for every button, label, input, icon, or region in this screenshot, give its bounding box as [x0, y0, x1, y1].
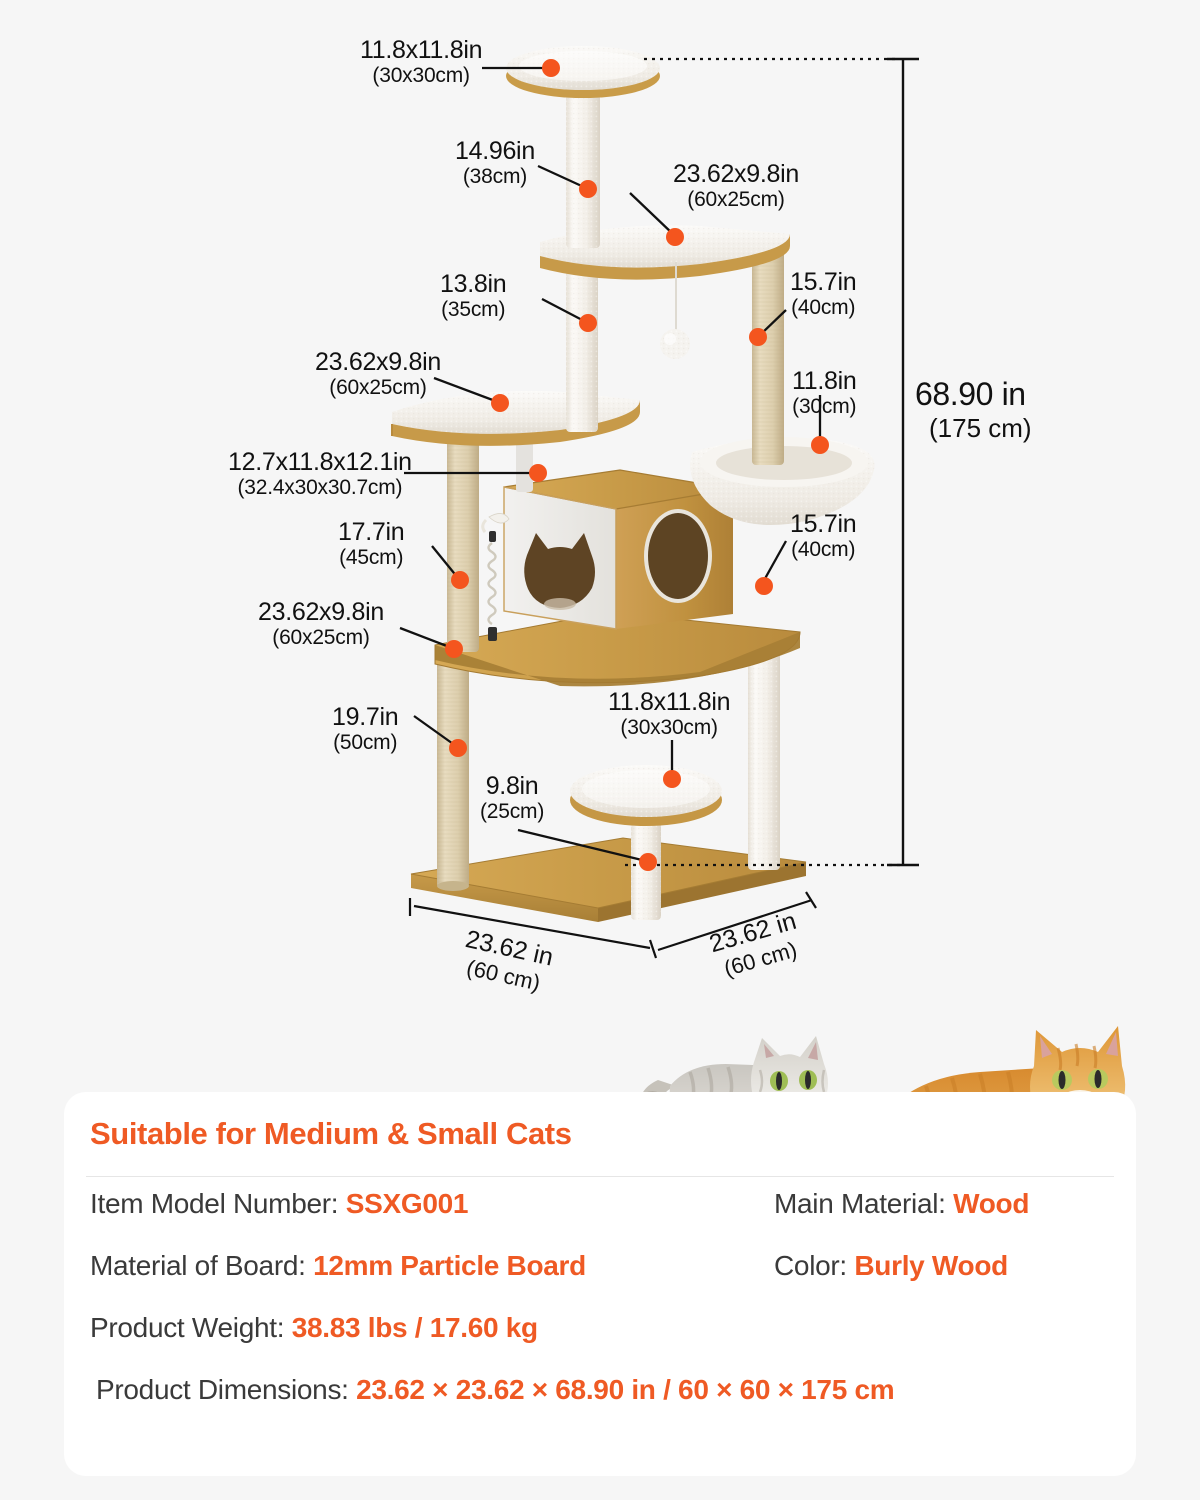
- marker-step-perch: [663, 770, 681, 788]
- callout-mid-platform: 23.62x9.8in (60x25cm): [315, 348, 441, 400]
- callout-condo: 12.7x11.8x12.1in (32.4x30x30.7cm): [228, 448, 412, 500]
- callout-hammock-cm: (30cm): [792, 395, 856, 419]
- spec-item-main-material: Main Material: Wood: [774, 1188, 1029, 1220]
- callout-right-post-lower-cm: (40cm): [790, 538, 856, 562]
- callout-step-perch-in: 11.8x11.8in: [608, 688, 730, 716]
- callout-top-perch-in: 11.8x11.8in: [360, 36, 482, 64]
- spec-value-dimensions: 23.62 × 23.62 × 68.90 in / 60 × 60 × 175…: [356, 1374, 894, 1405]
- callout-mid-post-cm: (35cm): [440, 298, 506, 322]
- callout-hammock-in: 11.8in: [792, 367, 856, 395]
- spec-value-weight: 38.83 lbs / 17.60 kg: [292, 1312, 538, 1343]
- marker-right-post-upper: [749, 328, 767, 346]
- callout-top-post-cm: (38cm): [455, 165, 535, 189]
- callout-step-post-in: 9.8in: [480, 772, 544, 800]
- callout-right-post-lower: 15.7in (40cm): [790, 510, 856, 562]
- callout-top-post-in: 14.96in: [455, 137, 535, 165]
- callout-scratch-post-cm: (45cm): [338, 546, 404, 570]
- callout-lower-platform-in: 23.62x9.8in: [258, 598, 384, 626]
- callout-right-post-lower-in: 15.7in: [790, 510, 856, 538]
- marker-lower-platform: [445, 640, 463, 658]
- callout-step-post-cm: (25cm): [480, 800, 544, 824]
- spec-label-main-material: Main Material:: [774, 1188, 953, 1219]
- spec-value-color: Burly Wood: [854, 1250, 1008, 1281]
- cat-tree-illustration: [0, 0, 1200, 1040]
- spec-card-divider: [86, 1176, 1114, 1177]
- spec-label-model: Item Model Number:: [90, 1188, 346, 1219]
- spec-value-board: 12mm Particle Board: [313, 1250, 586, 1281]
- spec-item-product-dimensions: Product Dimensions: 23.62 × 23.62 × 68.9…: [96, 1374, 894, 1406]
- callout-condo-in: 12.7x11.8x12.1in: [228, 448, 412, 476]
- callout-lower-platform-cm: (60x25cm): [258, 626, 384, 650]
- post-right-upper: [752, 250, 784, 465]
- callout-upper-platform: 23.62x9.8in (60x25cm): [673, 160, 799, 212]
- marker-base-post: [449, 739, 467, 757]
- callout-scratch-post-in: 17.7in: [338, 518, 404, 546]
- spec-row-model: Item Model Number: SSXG001 Main Material…: [90, 1188, 1110, 1250]
- marker-top-post: [579, 180, 597, 198]
- callout-base-post-in: 19.7in: [332, 703, 398, 731]
- spec-card: Suitable for Medium & Small Cats Item Mo…: [64, 1092, 1136, 1476]
- spec-value-model: SSXG001: [346, 1188, 468, 1219]
- callout-scratch-post: 17.7in (45cm): [338, 518, 404, 570]
- post-top: [566, 86, 600, 248]
- spec-row-dimensions: Product Dimensions: 23.62 × 23.62 × 68.9…: [90, 1374, 1110, 1436]
- callout-base-post: 19.7in (50cm): [332, 703, 398, 755]
- marker-mid-post: [579, 314, 597, 332]
- callout-top-perch-cm: (30x30cm): [360, 64, 482, 88]
- spec-item-material-of-board: Material of Board: 12mm Particle Board: [90, 1250, 586, 1282]
- callout-lower-platform: 23.62x9.8in (60x25cm): [258, 598, 384, 650]
- spec-label-board: Material of Board:: [90, 1250, 313, 1281]
- callout-mid-post-in: 13.8in: [440, 270, 506, 298]
- spec-label-color: Color:: [774, 1250, 854, 1281]
- marker-condo: [529, 464, 547, 482]
- marker-top-perch: [542, 59, 560, 77]
- callout-right-post-upper-cm: (40cm): [790, 296, 856, 320]
- marker-scratch-post: [451, 571, 469, 589]
- callout-condo-cm: (32.4x30x30.7cm): [228, 476, 412, 500]
- spec-item-model-number: Item Model Number: SSXG001: [90, 1188, 468, 1220]
- post-base-left: [437, 648, 469, 891]
- perch-top: [506, 46, 660, 98]
- product-dimension-infographic: 11.8x11.8in (30x30cm) 14.96in (38cm) 23.…: [0, 0, 1200, 1500]
- overall-height-in: 68.90 in: [915, 376, 1032, 413]
- marker-mid-platform: [491, 394, 509, 412]
- post-right-lower: [748, 630, 780, 870]
- marker-hammock: [811, 436, 829, 454]
- marker-step-post: [639, 853, 657, 871]
- callout-hammock: 11.8in (30cm): [792, 367, 856, 419]
- perch-step: [570, 765, 722, 826]
- callout-upper-platform-cm: (60x25cm): [673, 188, 799, 212]
- spec-label-dimensions: Product Dimensions:: [96, 1374, 356, 1405]
- spec-row-weight: Product Weight: 38.83 lbs / 17.60 kg: [90, 1312, 1110, 1374]
- condo-house: [504, 470, 733, 629]
- callout-base-post-cm: (50cm): [332, 731, 398, 755]
- spec-label-weight: Product Weight:: [90, 1312, 292, 1343]
- overall-height-label: 68.90 in (175 cm): [915, 376, 1032, 444]
- spec-item-product-weight: Product Weight: 38.83 lbs / 17.60 kg: [90, 1312, 538, 1344]
- cat-tree-diagram: 11.8x11.8in (30x30cm) 14.96in (38cm) 23.…: [0, 0, 1200, 1040]
- callout-top-perch: 11.8x11.8in (30x30cm): [360, 36, 482, 88]
- post-scratch-sisal: [447, 430, 479, 652]
- callout-top-post: 14.96in (38cm): [455, 137, 535, 189]
- callout-upper-platform-in: 23.62x9.8in: [673, 160, 799, 188]
- base-board: [411, 838, 806, 922]
- overall-height-cm: (175 cm): [915, 413, 1032, 444]
- marker-right-post-lower: [755, 577, 773, 595]
- callout-mid-platform-cm: (60x25cm): [315, 376, 441, 400]
- callout-step-perch-cm: (30x30cm): [608, 716, 730, 740]
- callout-mid-post: 13.8in (35cm): [440, 270, 506, 322]
- callout-right-post-upper-in: 15.7in: [790, 268, 856, 296]
- callout-right-post-upper: 15.7in (40cm): [790, 268, 856, 320]
- marker-upper-platform: [666, 228, 684, 246]
- spec-card-title: Suitable for Medium & Small Cats: [90, 1116, 572, 1152]
- callout-step-post: 9.8in (25cm): [480, 772, 544, 824]
- spec-row-board: Material of Board: 12mm Particle Board C…: [90, 1250, 1110, 1312]
- spec-value-main-material: Wood: [953, 1188, 1029, 1219]
- callout-step-perch: 11.8x11.8in (30x30cm): [608, 688, 730, 740]
- spec-rows: Item Model Number: SSXG001 Main Material…: [90, 1188, 1110, 1436]
- spec-item-color: Color: Burly Wood: [774, 1250, 1008, 1282]
- callout-mid-platform-in: 23.62x9.8in: [315, 348, 441, 376]
